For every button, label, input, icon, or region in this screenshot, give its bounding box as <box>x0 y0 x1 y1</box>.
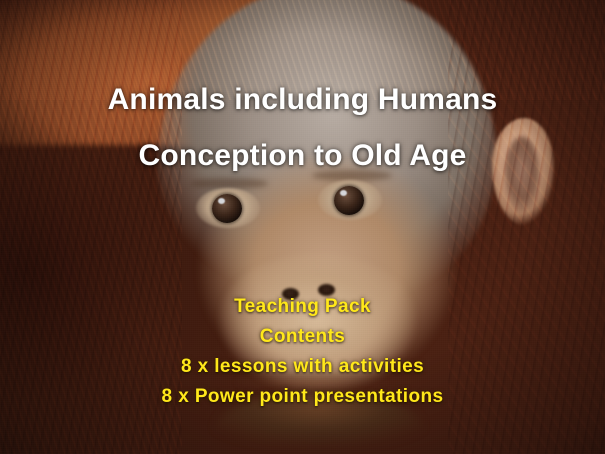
title-line-2: Conception to Old Age <box>0 128 605 184</box>
contents-block: Teaching Pack Contents 8 x lessons with … <box>0 292 605 412</box>
contents-item-presentations: 8 x Power point presentations <box>0 382 605 412</box>
contents-subheading: Contents <box>0 322 605 352</box>
title-block: Animals including Humans Conception to O… <box>0 72 605 184</box>
contents-item-lessons: 8 x lessons with activities <box>0 352 605 382</box>
contents-heading: Teaching Pack <box>0 292 605 322</box>
title-slide: Animals including Humans Conception to O… <box>0 0 605 454</box>
title-line-1: Animals including Humans <box>0 72 605 128</box>
